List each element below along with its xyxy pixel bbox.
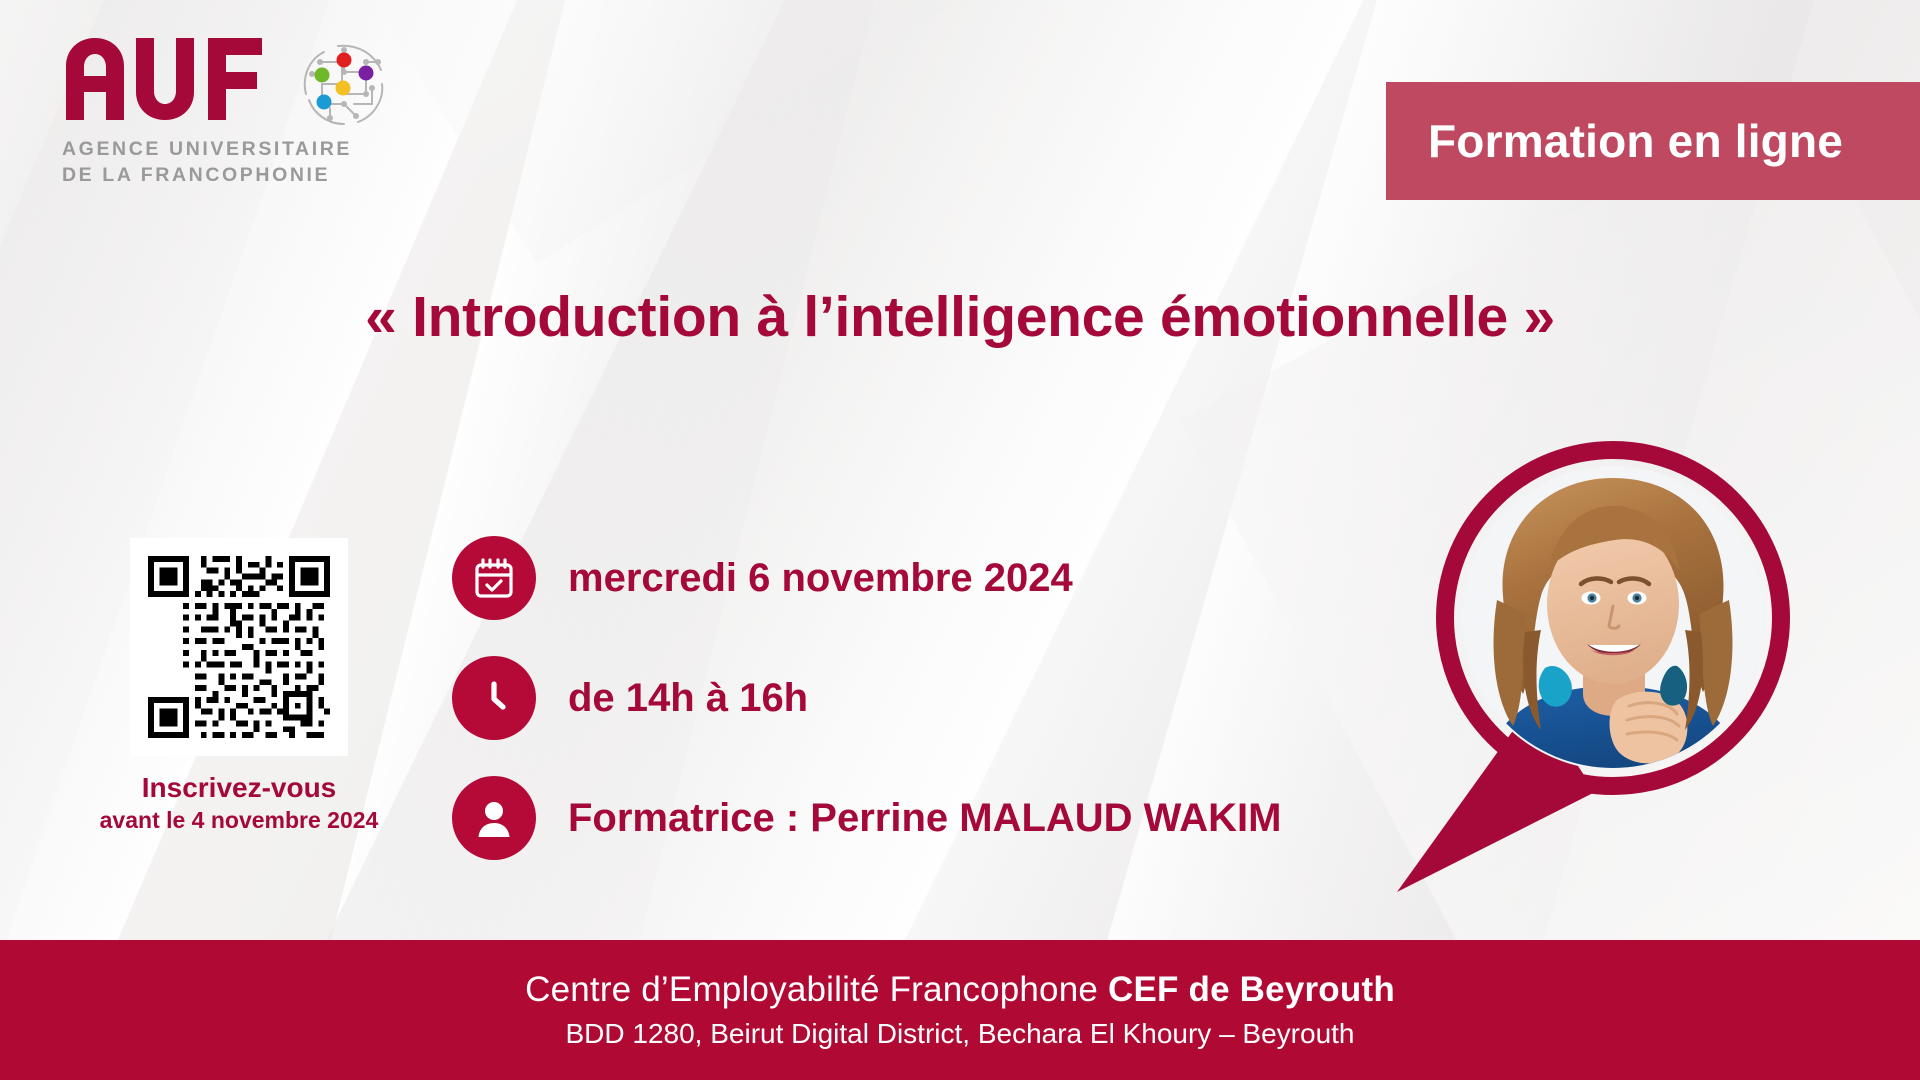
registration-block: Inscrivez-vous avant le 4 novembre 2024 (94, 538, 384, 834)
formation-banner: Formation en ligne (1386, 82, 1920, 200)
calendar-check-icon (452, 536, 536, 620)
qr-code-icon[interactable] (142, 550, 336, 744)
auf-logo: AGENCE UNIVERSITAIRE DE LA FRANCOPHONIE (62, 36, 390, 188)
speaker-portrait-bubble (1385, 400, 1835, 900)
detail-row-date: mercredi 6 novembre 2024 (452, 536, 1281, 620)
auf-globe-icon (298, 38, 390, 130)
clock-glyph (470, 674, 518, 722)
registration-deadline: avant le 4 novembre 2024 (94, 807, 384, 834)
footer-organization-plain: Centre d’Employabilité Francophone (525, 970, 1108, 1009)
globe-dot-blue (317, 95, 332, 110)
globe-dot-red (337, 53, 352, 68)
event-details-list: mercredi 6 novembre 2024 de 14h à 16h Fo… (452, 536, 1281, 860)
formation-banner-label: Formation en ligne (1386, 114, 1843, 168)
clock-icon (452, 656, 536, 740)
portrait-photo (1461, 466, 1765, 780)
calendar-check-glyph (470, 554, 518, 602)
footer-organization-bold: CEF de Beyrouth (1108, 970, 1395, 1009)
poster-canvas: AGENCE UNIVERSITAIRE DE LA FRANCOPHONIE … (0, 0, 1920, 1080)
footer-organization: Centre d’Employabilité Francophone CEF d… (525, 970, 1395, 1010)
auf-logo-subtitle: AGENCE UNIVERSITAIRE DE LA FRANCOPHONIE (62, 137, 390, 188)
globe-dot-yellow (336, 81, 351, 96)
page-title: « Introduction à l’intelligence émotionn… (0, 284, 1920, 350)
detail-label-time: de 14h à 16h (568, 676, 808, 721)
speech-bubble-portrait-icon (1385, 400, 1835, 900)
detail-label-trainer: Formatrice : Perrine MALAUD WAKIM (568, 796, 1281, 841)
footer-bar: Centre d’Employabilité Francophone CEF d… (0, 940, 1920, 1080)
detail-row-time: de 14h à 16h (452, 656, 1281, 740)
registration-cta: Inscrivez-vous (94, 772, 384, 803)
detail-row-trainer: Formatrice : Perrine MALAUD WAKIM (452, 776, 1281, 860)
detail-label-date: mercredi 6 novembre 2024 (568, 556, 1073, 601)
person-icon (452, 776, 536, 860)
auf-wordmark-icon (62, 36, 284, 122)
person-glyph (470, 794, 518, 842)
qr-code-frame[interactable] (130, 538, 348, 756)
footer-address: BDD 1280, Beirut Digital District, Becha… (565, 1018, 1354, 1050)
globe-dot-green (315, 68, 330, 83)
globe-dot-purple (359, 66, 374, 81)
